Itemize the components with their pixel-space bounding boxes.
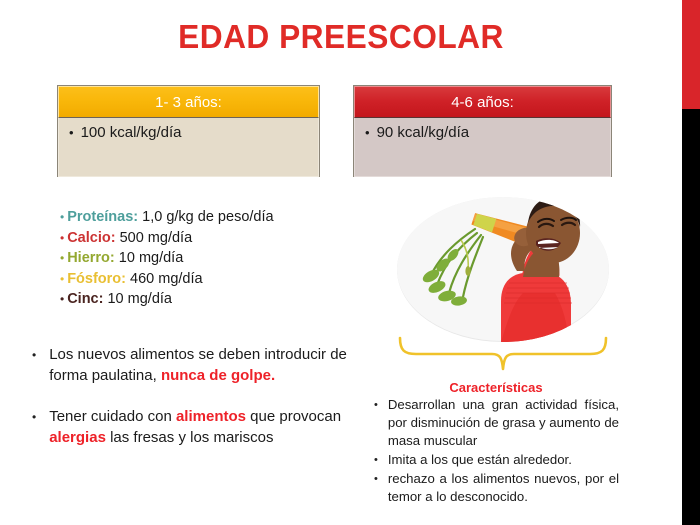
bullet-dot: • — [60, 251, 64, 265]
bullet-dot: • — [60, 210, 64, 224]
curly-brace-icon — [396, 336, 611, 372]
child-eating-carrot-illustration — [397, 197, 609, 342]
left-notes-list: • Los nuevos alimentos se deben introduc… — [32, 345, 362, 469]
age-box-1-3-header: 1- 3 años: — [58, 86, 319, 118]
list-item: • rechazo a los alimentos nuevos, por el… — [374, 470, 619, 506]
age-box-4-6-value: 90 kcal/kg/día — [377, 124, 470, 141]
nutrient-value: 1,0 g/kg de peso/día — [142, 209, 273, 225]
note-highlight: alimentos — [176, 408, 246, 425]
age-box-4-6-header: 4-6 años: — [354, 86, 611, 118]
bullet-dot: • — [374, 470, 378, 506]
edge-black-bar — [682, 109, 700, 525]
bullet-dot: • — [60, 231, 64, 245]
note-plain: Tener cuidado con — [49, 408, 176, 425]
bullet-dot: • — [60, 292, 64, 306]
characteristics-list: • Desarrollan una gran actividad física,… — [374, 396, 619, 507]
list-item: • Los nuevos alimentos se deben introduc… — [32, 345, 362, 386]
nutrient-value: 10 mg/día — [107, 291, 172, 307]
bullet-dot: • — [32, 345, 36, 386]
nutrient-label: Fósforo: — [67, 271, 126, 287]
bullet-dot: • — [374, 451, 378, 469]
age-box-1-3-body: • 100 kcal/kg/día — [58, 118, 319, 177]
left-note-text-1: Los nuevos alimentos se deben introducir… — [49, 345, 362, 386]
list-item: •Cinc: 10 mg/día — [60, 289, 380, 310]
nutrient-list: •Proteínas: 1,0 g/kg de peso/día •Calcio… — [60, 207, 380, 310]
bullet-dot: • — [32, 407, 36, 448]
age-box-4-6: 4-6 años: • 90 kcal/kg/día — [353, 85, 612, 177]
age-box-1-3-value: 100 kcal/kg/día — [81, 124, 182, 141]
characteristic-text-2: Imita a los que están alrededor. — [388, 451, 572, 469]
page-title: EDAD PREESCOLAR — [14, 18, 669, 56]
age-box-4-6-body: • 90 kcal/kg/día — [354, 118, 611, 177]
slide-canvas: EDAD PREESCOLAR 1- 3 años: • 100 kcal/kg… — [0, 0, 700, 525]
left-note-text-2: Tener cuidado con alimentos que provocan… — [49, 407, 362, 448]
list-item: •Hierro: 10 mg/día — [60, 248, 380, 269]
bullet-dot: • — [60, 272, 64, 286]
note-highlight: alergias — [49, 429, 106, 446]
list-item: •Calcio: 500 mg/día — [60, 228, 380, 249]
nutrient-label: Proteínas: — [67, 209, 138, 225]
photo-figure — [397, 197, 609, 342]
nutrient-value: 10 mg/día — [119, 250, 184, 266]
nutrient-label: Calcio: — [67, 230, 115, 246]
list-item: •Proteínas: 1,0 g/kg de peso/día — [60, 207, 380, 228]
nutrient-label: Cinc: — [67, 291, 103, 307]
list-item: • Desarrollan una gran actividad física,… — [374, 396, 619, 450]
note-plain: que provocan — [246, 408, 341, 425]
bullet-dot: • — [374, 396, 378, 450]
photo-oval-frame — [397, 197, 609, 342]
characteristic-text-3: rechazo a los alimentos nuevos, por el t… — [388, 470, 619, 506]
nutrient-value: 500 mg/día — [120, 230, 193, 246]
note-plain: las fresas y los mariscos — [106, 429, 274, 446]
age-box-1-3: 1- 3 años: • 100 kcal/kg/día — [57, 85, 320, 177]
bullet-dot: • — [365, 124, 370, 141]
nutrient-value: 460 mg/día — [130, 271, 203, 287]
note-highlight: nunca de golpe. — [161, 367, 275, 384]
characteristic-text-1: Desarrollan una gran actividad física, p… — [388, 396, 619, 450]
edge-red-bar — [682, 0, 700, 109]
bullet-dot: • — [69, 124, 74, 141]
list-item: •Fósforo: 460 mg/día — [60, 269, 380, 290]
nutrient-label: Hierro: — [67, 250, 115, 266]
characteristics-title: Características — [380, 380, 612, 395]
list-item: • Imita a los que están alrededor. — [374, 451, 619, 469]
list-item: • Tener cuidado con alimentos que provoc… — [32, 407, 362, 448]
